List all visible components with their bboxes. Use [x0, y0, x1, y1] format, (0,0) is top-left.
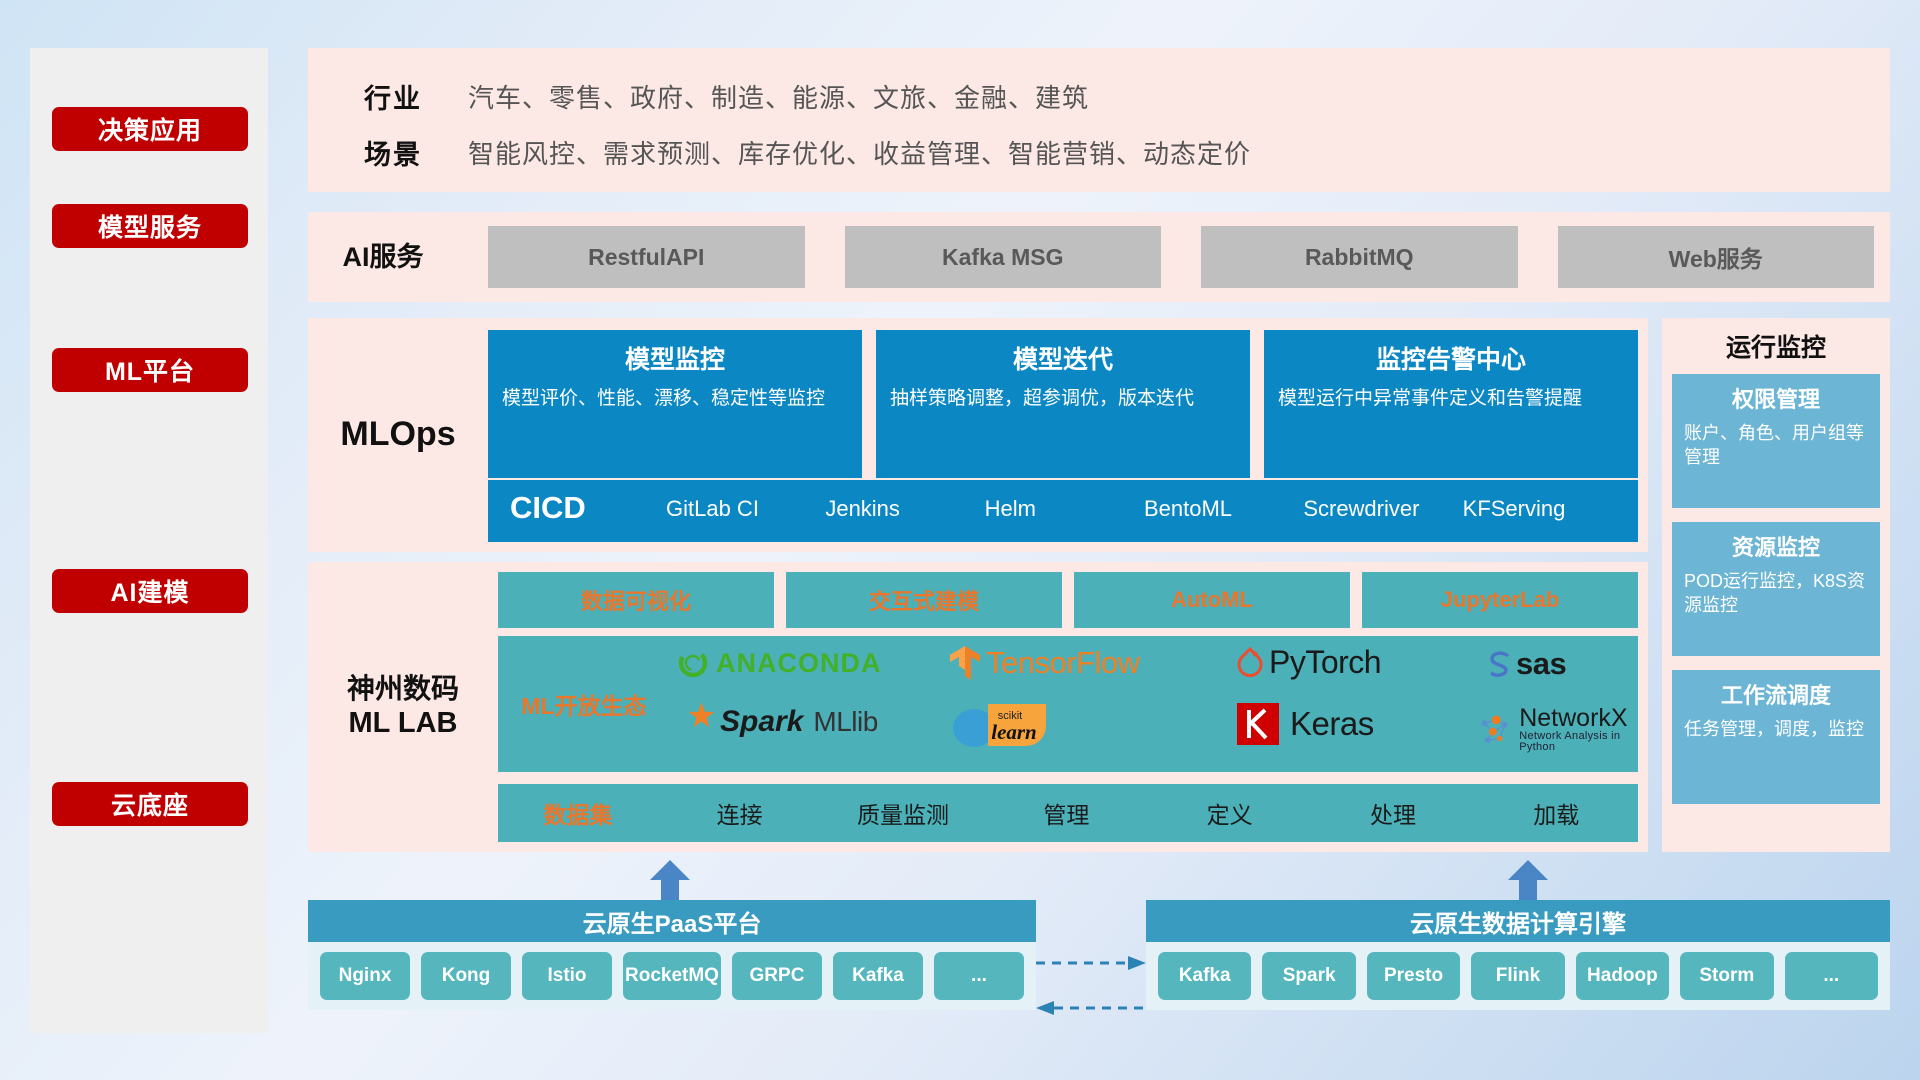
pytorch-logo: PyTorch	[1236, 644, 1381, 681]
cicd-title: CICD	[510, 490, 660, 526]
cloud-paas-title: 云原生PaaS平台	[308, 900, 1036, 942]
mlops-card-desc: 模型运行中异常事件定义和告警提醒	[1278, 386, 1624, 412]
mllab-tab-list: 数据可视化 交互式建模 AutoML JupyterLab	[498, 572, 1638, 628]
engine-chip-presto[interactable]: Presto	[1367, 952, 1460, 1000]
mlops-card-list: 模型监控 模型评价、性能、漂移、稳定性等监控 模型迭代 抽样策略调整，超参调优，…	[488, 330, 1638, 478]
spark-wordmark: Spark	[720, 705, 803, 739]
mllab-label-line2: ML LAB	[348, 706, 457, 741]
keras-wordmark: Keras	[1290, 705, 1374, 743]
mllab-label: 神州数码 ML LAB	[308, 562, 498, 852]
industry-panel: 行业 汽车、零售、政府、制造、能源、文旅、金融、建筑 场景 智能风控、需求预测、…	[308, 48, 1890, 192]
diagram-canvas: 决策应用 模型服务 ML平台 AI建模 云底座 行业 汽车、零售、政府、制造、能…	[0, 0, 1920, 1080]
monitor-title: 运行监控	[1662, 328, 1890, 364]
cicd-item-screwdriver[interactable]: Screwdriver	[1303, 490, 1456, 523]
cicd-bar: CICD GitLab CI Jenkins Helm BentoML Scre…	[488, 480, 1638, 542]
spark-mllib-logo: Spark MLlib	[680, 700, 878, 744]
sas-icon	[1486, 649, 1514, 679]
mllab-label-line1: 神州数码	[347, 672, 459, 706]
rail-label: 模型服务	[98, 208, 202, 244]
mlops-card-alert-center[interactable]: 监控告警中心 模型运行中异常事件定义和告警提醒	[1264, 330, 1638, 478]
mlops-card-title: 模型迭代	[890, 340, 1236, 376]
mllab-tab-jupyterlab[interactable]: JupyterLab	[1362, 572, 1638, 628]
anaconda-wordmark: ANACONDA	[716, 648, 882, 679]
monitor-panel: 运行监控 权限管理 账户、角色、用户组等管理 资源监控 POD运行监控，K8S资…	[1662, 318, 1890, 852]
ml-ecosystem-title: ML开放生态	[498, 687, 658, 721]
cloud-engine-block: 云原生数据计算引擎 Kafka Spark Presto Flink Hadoo…	[1146, 900, 1890, 1010]
dataset-item-definition[interactable]: 定义	[1148, 796, 1311, 830]
engine-chip-flink[interactable]: Flink	[1471, 952, 1564, 1000]
dataset-item-loading[interactable]: 加载	[1475, 796, 1638, 830]
ai-service-chip-kafka-msg[interactable]: Kafka MSG	[845, 226, 1162, 288]
cloud-chip-rocketmq[interactable]: RocketMQ	[623, 952, 721, 1000]
engine-chip-hadoop[interactable]: Hadoop	[1576, 952, 1669, 1000]
sas-wordmark: sas	[1516, 646, 1566, 682]
rail-item-cloud-base[interactable]: 云底座	[52, 782, 248, 826]
cloud-engine-title: 云原生数据计算引擎	[1146, 900, 1890, 942]
monitor-card-workflow[interactable]: 工作流调度 任务管理，调度，监控	[1672, 670, 1880, 804]
dataset-item-management[interactable]: 管理	[985, 796, 1148, 830]
tensorflow-logo: TensorFlow	[948, 644, 1140, 682]
industry-row: 行业 汽车、零售、政府、制造、能源、文旅、金融、建筑	[318, 70, 1880, 122]
sas-logo: sas	[1486, 646, 1566, 682]
engine-to-paas-arrow-icon	[1036, 1000, 1146, 1016]
cloud-chip-nginx[interactable]: Nginx	[320, 952, 410, 1000]
tensorflow-icon	[948, 644, 982, 682]
monitor-card-desc: POD运行监控，K8S资源监控	[1684, 569, 1868, 618]
networkx-wordmark: NetworkX	[1519, 706, 1638, 731]
dataset-item-connect[interactable]: 连接	[658, 796, 821, 830]
ai-service-chip-list: RestfulAPI Kafka MSG RabbitMQ Web服务	[488, 226, 1874, 288]
monitor-card-title: 工作流调度	[1684, 678, 1868, 710]
monitor-card-resource[interactable]: 资源监控 POD运行监控，K8S资源监控	[1672, 522, 1880, 656]
dataset-band: 数据集 连接 质量监测 管理 定义 处理 加载	[498, 784, 1638, 842]
engine-chip-kafka[interactable]: Kafka	[1158, 952, 1251, 1000]
scenario-row: 场景 智能风控、需求预测、库存优化、收益管理、智能营销、动态定价	[318, 126, 1880, 178]
cloud-engine-chip-list: Kafka Spark Presto Flink Hadoop Storm ..…	[1146, 942, 1890, 1010]
mlops-label: MLOps	[308, 318, 488, 552]
mllab-tab-data-visualization[interactable]: 数据可视化	[498, 572, 774, 628]
pytorch-wordmark: PyTorch	[1269, 644, 1381, 681]
ai-service-chip-restfulapi[interactable]: RestfulAPI	[488, 226, 805, 288]
anaconda-logo: ANACONDA	[676, 646, 882, 680]
monitor-card-desc: 任务管理，调度，监控	[1684, 717, 1868, 741]
layer-rail: 决策应用 模型服务 ML平台 AI建模 云底座	[30, 48, 268, 1033]
spark-icon	[680, 700, 724, 744]
mllab-tab-interactive-modeling[interactable]: 交互式建模	[786, 572, 1062, 628]
cicd-item-helm[interactable]: Helm	[985, 490, 1138, 523]
engine-chip-storm[interactable]: Storm	[1680, 952, 1773, 1000]
networkx-tagline: Network Analysis in Python	[1519, 731, 1638, 753]
rail-label: AI建模	[110, 573, 189, 609]
svg-text:learn: learn	[991, 720, 1037, 744]
scenario-key: 场景	[318, 133, 468, 172]
cloud-chip-kong[interactable]: Kong	[421, 952, 511, 1000]
networkx-logo: NetworkX Network Analysis in Python	[1476, 706, 1638, 753]
paas-to-engine-arrow-icon	[1036, 955, 1146, 971]
rail-item-ai-modeling[interactable]: AI建模	[52, 569, 248, 613]
monitor-card-title: 权限管理	[1684, 382, 1868, 414]
cloud-chip-grpc[interactable]: GRPC	[732, 952, 822, 1000]
mlops-card-desc: 抽样策略调整，超参调优，版本迭代	[890, 386, 1236, 412]
industry-value: 汽车、零售、政府、制造、能源、文旅、金融、建筑	[468, 78, 1089, 115]
cicd-item-jenkins[interactable]: Jenkins	[825, 490, 978, 523]
pytorch-icon	[1236, 646, 1264, 680]
engine-chip-spark[interactable]: Spark	[1262, 952, 1355, 1000]
scikit-learn-icon: scikit learn	[950, 698, 1056, 750]
keras-icon	[1236, 702, 1280, 746]
monitor-card-permission[interactable]: 权限管理 账户、角色、用户组等管理	[1672, 374, 1880, 508]
cicd-item-bentoml[interactable]: BentoML	[1144, 490, 1297, 523]
cicd-item-kfserving[interactable]: KFServing	[1463, 490, 1616, 523]
ai-service-chip-rabbitmq[interactable]: RabbitMQ	[1201, 226, 1518, 288]
monitor-card-desc: 账户、角色、用户组等管理	[1684, 421, 1868, 470]
dataset-title: 数据集	[498, 796, 658, 830]
ai-service-chip-web[interactable]: Web服务	[1558, 226, 1875, 288]
mllab-tab-automl[interactable]: AutoML	[1074, 572, 1350, 628]
dataset-item-processing[interactable]: 处理	[1311, 796, 1474, 830]
mllab-panel: 数据可视化 交互式建模 AutoML JupyterLab ML开放生态 ANA…	[308, 562, 1648, 852]
scikit-learn-logo: scikit learn	[950, 698, 1056, 750]
ml-ecosystem-band: ML开放生态 ANACONDA TensorFlow	[498, 636, 1638, 772]
rail-item-model-service[interactable]: 模型服务	[52, 204, 248, 248]
cloud-chip-more[interactable]: ...	[934, 952, 1024, 1000]
mllib-wordmark: MLlib	[813, 706, 877, 738]
rail-item-ml-platform[interactable]: ML平台	[52, 348, 248, 392]
networkx-icon	[1476, 710, 1513, 750]
rail-label: 云底座	[111, 786, 189, 822]
ai-service-panel: RestfulAPI Kafka MSG RabbitMQ Web服务	[308, 212, 1890, 302]
engine-up-arrow-icon	[1506, 858, 1550, 902]
cloud-paas-chip-list: Nginx Kong Istio RocketMQ GRPC Kafka ...	[308, 942, 1036, 1010]
scenario-value: 智能风控、需求预测、库存优化、收益管理、智能营销、动态定价	[468, 134, 1251, 171]
anaconda-icon	[676, 646, 710, 680]
dataset-item-quality-monitoring[interactable]: 质量监测	[821, 796, 984, 830]
cloud-chip-kafka[interactable]: Kafka	[833, 952, 923, 1000]
rail-label: ML平台	[105, 352, 195, 388]
keras-logo: Keras	[1236, 702, 1374, 746]
mlops-card-title: 监控告警中心	[1278, 340, 1624, 376]
mlops-card-model-monitoring[interactable]: 模型监控 模型评价、性能、漂移、稳定性等监控	[488, 330, 862, 478]
mlops-card-model-iteration[interactable]: 模型迭代 抽样策略调整，超参调优，版本迭代	[876, 330, 1250, 478]
rail-label: 决策应用	[98, 111, 202, 147]
industry-key: 行业	[318, 77, 468, 116]
engine-chip-more[interactable]: ...	[1785, 952, 1878, 1000]
rail-item-decision-app[interactable]: 决策应用	[52, 107, 248, 151]
mlops-panel: 模型监控 模型评价、性能、漂移、稳定性等监控 模型迭代 抽样策略调整，超参调优，…	[308, 318, 1648, 552]
cicd-item-gitlab-ci[interactable]: GitLab CI	[666, 490, 819, 523]
cloud-paas-block: 云原生PaaS平台 Nginx Kong Istio RocketMQ GRPC…	[308, 900, 1036, 1010]
monitor-card-title: 资源监控	[1684, 530, 1868, 562]
mlops-card-title: 模型监控	[502, 340, 848, 376]
ml-ecosystem-logo-area: ANACONDA TensorFlow PyTorch	[658, 636, 1638, 772]
paas-up-arrow-icon	[648, 858, 692, 902]
ai-service-label: AI服务	[308, 212, 458, 302]
cloud-chip-istio[interactable]: Istio	[522, 952, 612, 1000]
tensorflow-wordmark: TensorFlow	[986, 645, 1140, 681]
mlops-card-desc: 模型评价、性能、漂移、稳定性等监控	[502, 386, 848, 412]
